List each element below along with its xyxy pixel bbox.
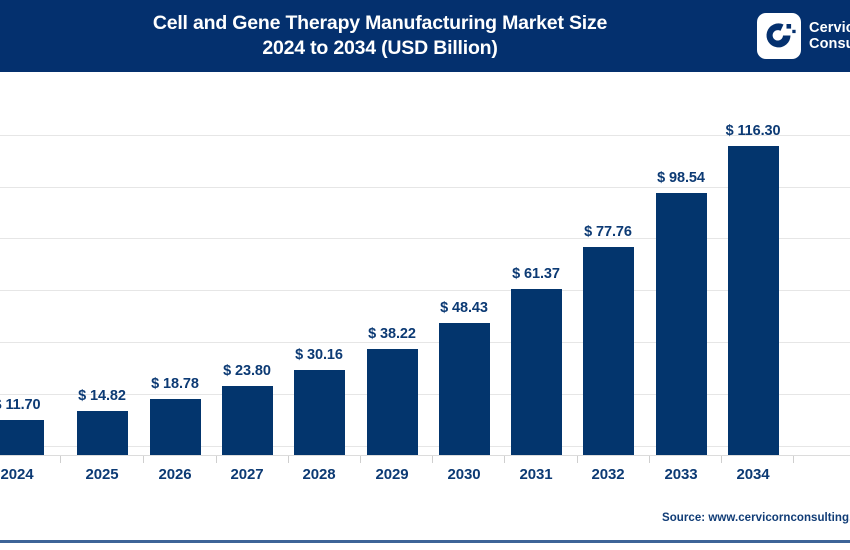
gridline [0,290,850,291]
bar[interactable] [77,411,128,455]
header-band: Cell and Gene Therapy Manufacturing Mark… [0,0,850,72]
axis-tick [143,456,144,463]
axis-baseline [0,455,850,456]
bar[interactable] [439,323,490,455]
bar-value-label: $ 77.76 [558,224,658,240]
bar[interactable] [150,399,201,455]
axis-tick [432,456,433,463]
axis-tick [577,456,578,463]
cervicorn-c-logo-icon [757,13,801,59]
axis-tick [721,456,722,463]
bar[interactable] [511,289,562,455]
axis-tick [60,456,61,463]
bar[interactable] [294,370,345,455]
bar-value-label: $ 61.37 [486,266,586,282]
bar[interactable] [367,349,418,455]
brand-name: Cervicorn Consulting [809,20,850,52]
bar-value-label: $ 38.22 [342,326,442,342]
category-label: 2034 [703,466,803,483]
bar-value-label: $ 116.30 [703,123,803,139]
axis-tick [360,456,361,463]
axis-tick [649,456,650,463]
page-title: Cell and Gene Therapy Manufacturing Mark… [0,11,760,61]
footer-divider [0,540,850,543]
bar[interactable] [583,247,634,455]
bar-value-label: $ 30.16 [269,347,369,363]
axis-tick [793,456,794,463]
gridline [0,238,850,239]
gridline [0,187,850,188]
bar[interactable] [0,420,44,455]
bar-value-label: $ 98.54 [631,170,731,186]
gridline [0,342,850,343]
axis-tick [504,456,505,463]
infographic-root: Cell and Gene Therapy Manufacturing Mark… [0,0,850,550]
source-attribution: Source: www.cervicornconsulting.com [662,512,850,524]
bar[interactable] [656,193,707,455]
axis-tick [288,456,289,463]
bar-value-label: $ 23.80 [197,363,297,379]
chart-plot-area: $ 11.70 2024 $ 14.82 2025 $ 18.78 2026 $… [0,72,850,492]
bar[interactable] [222,386,273,455]
axis-tick [216,456,217,463]
brand-logo: Cervicorn Consulting [757,12,850,60]
bar-value-label: $ 48.43 [414,300,514,316]
bar[interactable] [728,146,779,455]
